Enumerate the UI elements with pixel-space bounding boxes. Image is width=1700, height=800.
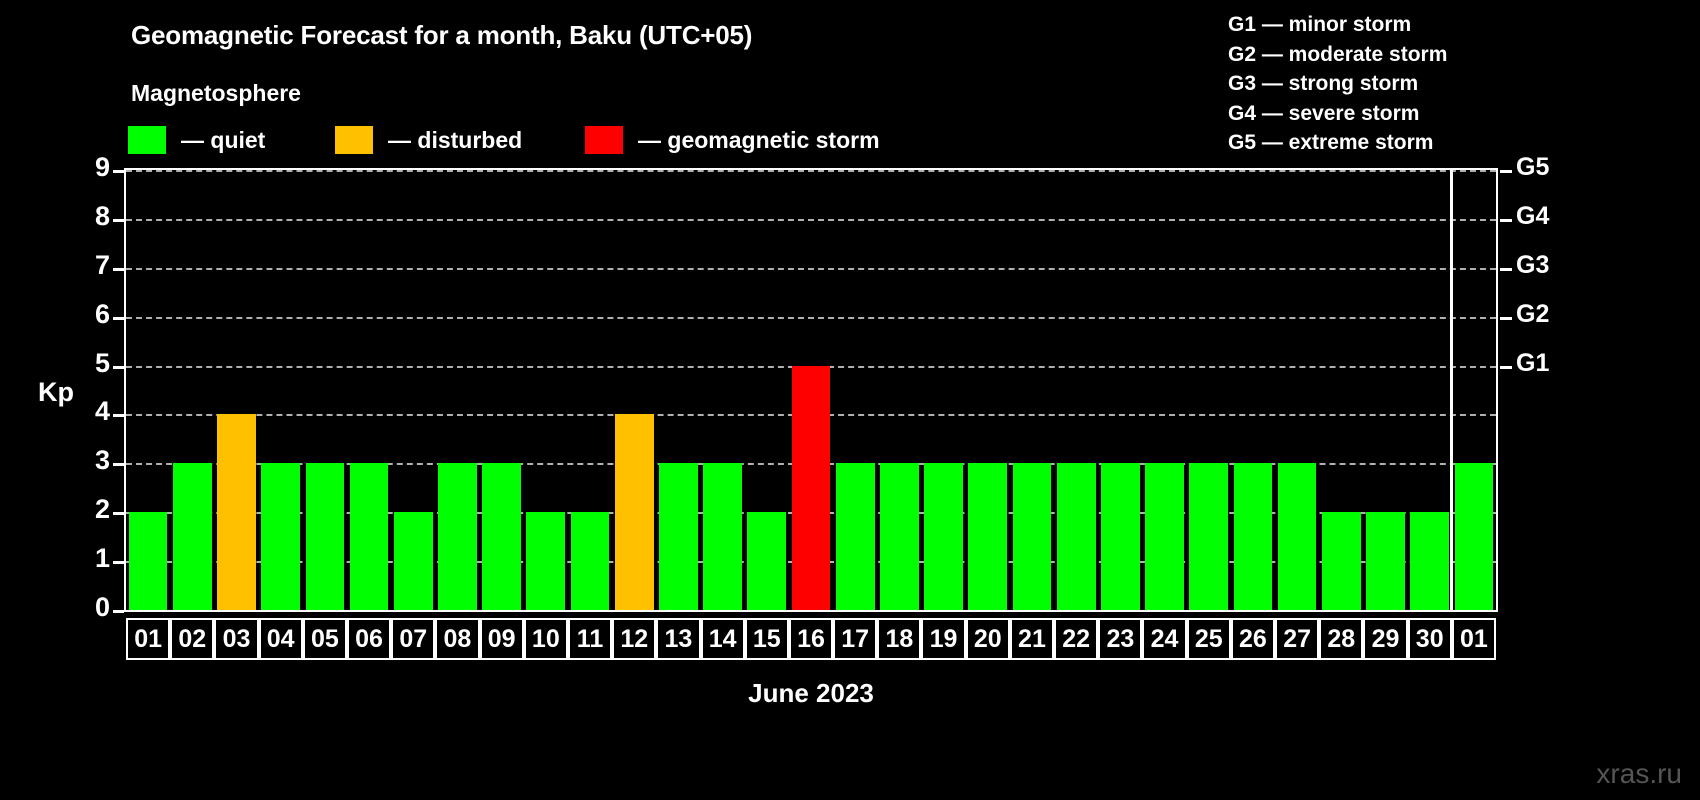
gridline xyxy=(126,268,1496,270)
x-tick-label[interactable]: 04 xyxy=(259,618,303,660)
bar[interactable] xyxy=(968,463,1007,610)
y-tick-mark xyxy=(113,317,124,320)
bar[interactable] xyxy=(1234,463,1273,610)
x-tick-label[interactable]: 27 xyxy=(1275,618,1319,660)
bar[interactable] xyxy=(571,512,610,610)
red-square-icon xyxy=(585,126,623,154)
x-tick-label[interactable]: 29 xyxy=(1363,618,1407,660)
x-tick-label[interactable]: 15 xyxy=(745,618,789,660)
y-tick-label: 0 xyxy=(76,592,110,623)
legend-item-label: — quiet xyxy=(181,127,265,154)
y-tick-label: 5 xyxy=(76,348,110,379)
bar[interactable] xyxy=(1278,463,1317,610)
x-tick-label[interactable]: 24 xyxy=(1142,618,1186,660)
y-tick-mark xyxy=(113,170,124,173)
x-tick-label[interactable]: 02 xyxy=(170,618,214,660)
x-axis-labels: 0102030405060708091011121314151617181920… xyxy=(124,618,1498,660)
x-tick-label[interactable]: 11 xyxy=(568,618,612,660)
bar[interactable] xyxy=(880,463,919,610)
bar[interactable] xyxy=(1455,463,1494,610)
plot-area xyxy=(124,168,1498,612)
g-tick-label: G3 xyxy=(1516,251,1576,280)
x-tick-label[interactable]: 05 xyxy=(303,618,347,660)
bar[interactable] xyxy=(350,463,389,610)
y-tick-mark xyxy=(113,512,124,515)
x-tick-label[interactable]: 20 xyxy=(966,618,1010,660)
y-tick-label: 6 xyxy=(76,299,110,330)
y-tick-mark xyxy=(113,219,124,222)
page-title: Geomagnetic Forecast for a month, Baku (… xyxy=(131,20,752,51)
x-tick-label[interactable]: 18 xyxy=(877,618,921,660)
storm-scale-item: G3 — strong storm xyxy=(1228,69,1447,99)
chart-root: Geomagnetic Forecast for a month, Baku (… xyxy=(0,0,1700,800)
legend-item: — quiet xyxy=(128,120,265,160)
y-tick-label: 2 xyxy=(76,494,110,525)
bar[interactable] xyxy=(1189,463,1228,610)
y-tick-label: 9 xyxy=(76,152,110,183)
g-tick-mark xyxy=(1500,170,1512,173)
bar[interactable] xyxy=(659,463,698,610)
y-tick-label: 3 xyxy=(76,445,110,476)
bar[interactable] xyxy=(173,463,212,610)
y-tick-mark xyxy=(113,268,124,271)
g-tick-label: G1 xyxy=(1516,349,1576,378)
storm-scale-legend: G1 — minor stormG2 — moderate stormG3 — … xyxy=(1228,10,1447,158)
bar[interactable] xyxy=(1013,463,1052,610)
x-tick-label[interactable]: 26 xyxy=(1231,618,1275,660)
green-square-icon xyxy=(128,126,166,154)
bar[interactable] xyxy=(1410,512,1449,610)
y-tick-mark xyxy=(113,610,124,613)
y-tick-mark xyxy=(113,463,124,466)
g-tick-label: G2 xyxy=(1516,300,1576,329)
bar[interactable] xyxy=(615,414,654,610)
legend-item: — disturbed xyxy=(335,120,522,160)
y-tick-mark xyxy=(113,561,124,564)
y-tick-mark xyxy=(113,366,124,369)
x-tick-label[interactable]: 23 xyxy=(1098,618,1142,660)
y-tick-label: 7 xyxy=(76,250,110,281)
orange-square-icon xyxy=(335,126,373,154)
g-tick-mark xyxy=(1500,268,1512,271)
g-tick-label: G5 xyxy=(1516,153,1576,182)
x-tick-label[interactable]: 14 xyxy=(701,618,745,660)
bar[interactable] xyxy=(747,512,786,610)
x-tick-label[interactable]: 10 xyxy=(524,618,568,660)
bar[interactable] xyxy=(1145,463,1184,610)
bar[interactable] xyxy=(306,463,345,610)
bar[interactable] xyxy=(792,366,831,610)
bar[interactable] xyxy=(526,512,565,610)
x-tick-label[interactable]: 25 xyxy=(1187,618,1231,660)
bar[interactable] xyxy=(1101,463,1140,610)
g-tick-mark xyxy=(1500,317,1512,320)
y-axis-label: Kp xyxy=(38,377,74,408)
storm-scale-item: G1 — minor storm xyxy=(1228,10,1447,40)
bar[interactable] xyxy=(261,463,300,610)
x-axis-caption-wrap: June 2023 xyxy=(124,678,1498,709)
bar[interactable] xyxy=(1366,512,1405,610)
x-tick-label[interactable]: 21 xyxy=(1010,618,1054,660)
x-axis-caption: June 2023 xyxy=(748,678,874,708)
gridline xyxy=(126,317,1496,319)
x-tick-label[interactable]: 09 xyxy=(480,618,524,660)
legend-item-label: — disturbed xyxy=(388,127,522,154)
gridline xyxy=(126,219,1496,221)
storm-scale-item: G2 — moderate storm xyxy=(1228,40,1447,70)
bar[interactable] xyxy=(438,463,477,610)
bar[interactable] xyxy=(482,463,521,610)
x-tick-label[interactable]: 01 xyxy=(126,618,170,660)
x-tick-label[interactable]: 13 xyxy=(656,618,700,660)
bar[interactable] xyxy=(129,512,168,610)
legend-heading: Magnetosphere xyxy=(131,80,301,107)
y-tick-mark xyxy=(113,414,124,417)
x-tick-label[interactable]: 17 xyxy=(833,618,877,660)
bar[interactable] xyxy=(703,463,742,610)
x-tick-label[interactable]: 03 xyxy=(214,618,258,660)
y-tick-label: 8 xyxy=(76,201,110,232)
bar[interactable] xyxy=(836,463,875,610)
bar[interactable] xyxy=(1057,463,1096,610)
x-tick-label[interactable]: 08 xyxy=(435,618,479,660)
g-tick-mark xyxy=(1500,219,1512,222)
month-divider xyxy=(1450,170,1453,610)
x-tick-label[interactable]: 16 xyxy=(789,618,833,660)
g-tick-mark xyxy=(1500,366,1512,369)
y-tick-label: 4 xyxy=(76,396,110,427)
y-tick-label: 1 xyxy=(76,543,110,574)
storm-scale-item: G4 — severe storm xyxy=(1228,99,1447,129)
x-tick-label[interactable]: 30 xyxy=(1408,618,1452,660)
legend-item-label: — geomagnetic storm xyxy=(638,127,880,154)
bar[interactable] xyxy=(1322,512,1361,610)
x-tick-label[interactable]: 01 xyxy=(1452,618,1496,660)
bar[interactable] xyxy=(394,512,433,610)
bar[interactable] xyxy=(217,414,256,610)
x-tick-label[interactable]: 07 xyxy=(391,618,435,660)
x-tick-label[interactable]: 19 xyxy=(921,618,965,660)
x-tick-label[interactable]: 12 xyxy=(612,618,656,660)
watermark: xras.ru xyxy=(1596,758,1682,790)
bar[interactable] xyxy=(924,463,963,610)
x-tick-label[interactable]: 22 xyxy=(1054,618,1098,660)
legend-item: — geomagnetic storm xyxy=(585,120,880,160)
g-tick-label: G4 xyxy=(1516,202,1576,231)
x-tick-label[interactable]: 28 xyxy=(1319,618,1363,660)
gridline xyxy=(126,170,1496,172)
storm-scale-item: G5 — extreme storm xyxy=(1228,128,1447,158)
x-tick-label[interactable]: 06 xyxy=(347,618,391,660)
